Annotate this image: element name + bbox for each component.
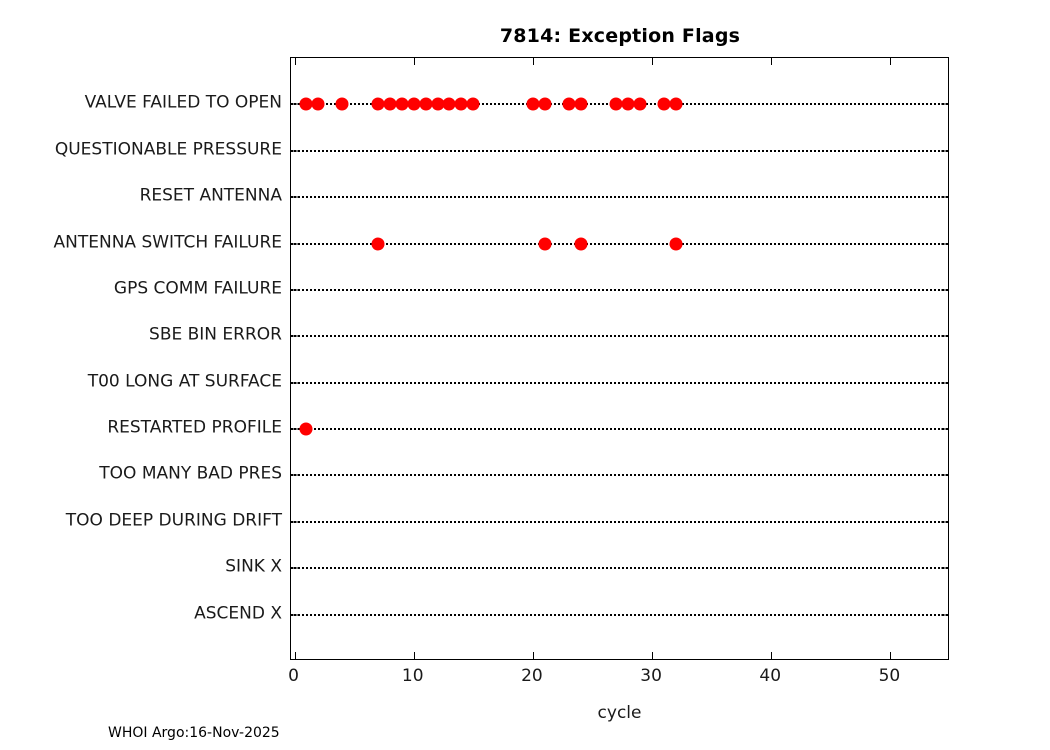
- footer-note: WHOI Argo:16-Nov-2025: [108, 725, 280, 741]
- chart-page: 7814: Exception Flags VALVE FAILED TO OP…: [0, 0, 1050, 750]
- x-axis-tick: [890, 652, 891, 659]
- x-axis-tick-label: 10: [402, 666, 424, 686]
- y-axis-tick: [291, 336, 298, 337]
- data-point-marker: [634, 98, 647, 111]
- x-axis-tick: [652, 652, 653, 659]
- y-axis-tick-label: ANTENNA SWITCH FAILURE: [54, 234, 282, 251]
- y-axis-tick-label: SINK X: [225, 559, 282, 576]
- y-axis-tick: [941, 475, 948, 476]
- y-axis-tick: [941, 429, 948, 430]
- data-point-marker: [467, 98, 480, 111]
- plot-area: [290, 57, 949, 660]
- x-axis-tick-label: 40: [759, 666, 781, 686]
- y-axis-tick: [941, 382, 948, 383]
- x-axis-tick: [771, 58, 772, 65]
- data-point-marker: [538, 237, 551, 250]
- y-axis-tick: [941, 336, 948, 337]
- x-axis-tick: [533, 652, 534, 659]
- y-axis-tick: [291, 521, 298, 522]
- y-axis-tick: [941, 197, 948, 198]
- y-axis-tick-label: QUESTIONABLE PRESSURE: [55, 141, 282, 158]
- gridline-row: [291, 567, 948, 569]
- gridline-row: [291, 150, 948, 152]
- y-axis-tick-label: GPS COMM FAILURE: [114, 280, 282, 297]
- y-axis-tick-label: RESTARTED PROFILE: [107, 420, 282, 437]
- y-axis-tick-label: ASCEND X: [194, 605, 282, 622]
- gridline-row: [291, 474, 948, 476]
- gridline-row: [291, 382, 948, 384]
- data-point-marker: [371, 237, 384, 250]
- gridline-row: [291, 428, 948, 430]
- y-axis-tick: [291, 104, 298, 105]
- x-axis-tick-label: 0: [288, 666, 299, 686]
- y-axis-tick: [291, 150, 298, 151]
- y-axis-tick-label: VALVE FAILED TO OPEN: [85, 95, 282, 112]
- y-axis-tick-label: TOO MANY BAD PRES: [99, 466, 282, 483]
- y-axis-tick: [941, 521, 948, 522]
- data-point-marker: [300, 423, 313, 436]
- data-point-marker: [538, 98, 551, 111]
- gridline-row: [291, 196, 948, 198]
- gridline-row: [291, 243, 948, 245]
- gridline-row: [291, 289, 948, 291]
- x-axis-tick: [652, 58, 653, 65]
- y-axis-tick-label: SBE BIN ERROR: [149, 327, 282, 344]
- plot-inner: [291, 58, 948, 659]
- x-axis-tick: [890, 58, 891, 65]
- page-title: 7814: Exception Flags: [290, 25, 950, 47]
- data-point-marker: [312, 98, 325, 111]
- y-axis-tick: [941, 614, 948, 615]
- y-axis-tick: [941, 104, 948, 105]
- data-point-marker: [336, 98, 349, 111]
- y-axis-tick: [291, 614, 298, 615]
- y-axis-tick: [291, 568, 298, 569]
- y-axis-tick-label: TOO DEEP DURING DRIFT: [66, 512, 282, 529]
- y-axis-tick: [941, 289, 948, 290]
- y-axis-tick-label: RESET ANTENNA: [140, 188, 282, 205]
- gridline-row: [291, 521, 948, 523]
- data-point-marker: [669, 237, 682, 250]
- x-axis-tick: [533, 58, 534, 65]
- y-axis-tick: [291, 429, 298, 430]
- x-axis-tick-label: 20: [521, 666, 543, 686]
- x-axis-tick-label: 50: [879, 666, 901, 686]
- data-point-marker: [574, 237, 587, 250]
- x-axis-tick-label: 30: [640, 666, 662, 686]
- x-axis-tick: [414, 58, 415, 65]
- x-axis-tick: [295, 58, 296, 65]
- gridline-row: [291, 335, 948, 337]
- y-axis-tick: [941, 568, 948, 569]
- y-axis-tick: [941, 150, 948, 151]
- y-axis-tick: [291, 289, 298, 290]
- data-point-marker: [669, 98, 682, 111]
- x-axis-title: cycle: [290, 703, 949, 723]
- y-axis-labels: VALVE FAILED TO OPENQUESTIONABLE PRESSUR…: [0, 57, 282, 660]
- y-axis-tick: [941, 243, 948, 244]
- y-axis-tick-label: T00 LONG AT SURFACE: [88, 373, 282, 390]
- y-axis-tick: [291, 382, 298, 383]
- y-axis-tick: [291, 243, 298, 244]
- x-axis-tick: [414, 652, 415, 659]
- gridline-row: [291, 614, 948, 616]
- x-axis-tick: [295, 652, 296, 659]
- data-point-marker: [574, 98, 587, 111]
- y-axis-tick: [291, 197, 298, 198]
- y-axis-tick: [291, 475, 298, 476]
- x-axis-tick: [771, 652, 772, 659]
